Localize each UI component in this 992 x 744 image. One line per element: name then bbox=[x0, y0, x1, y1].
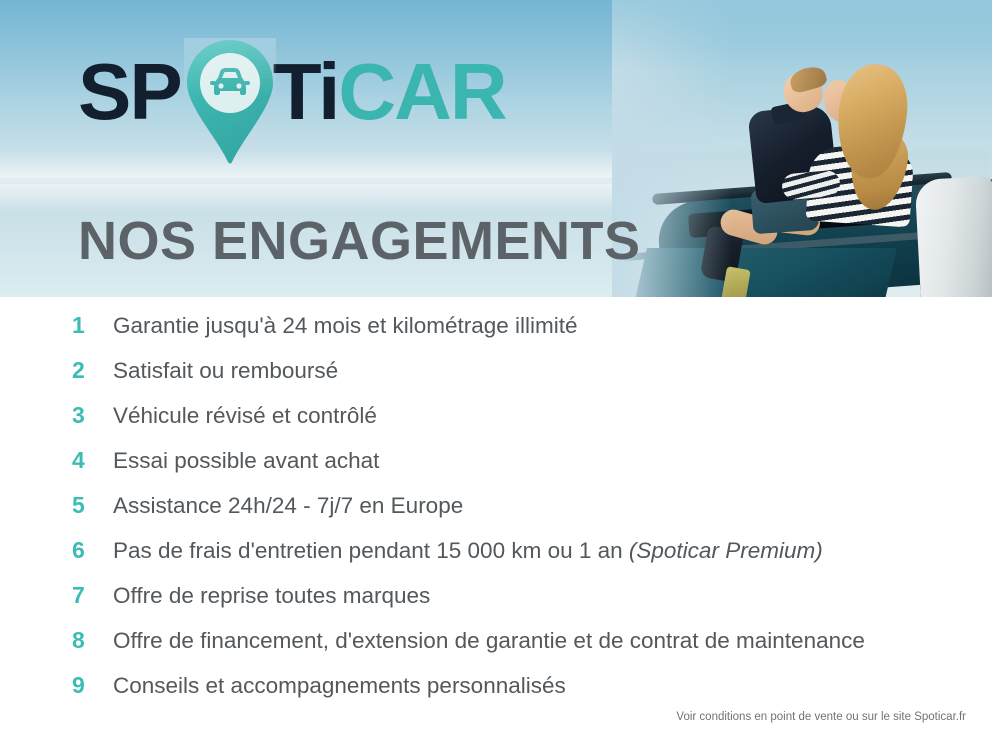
item-number: 9 bbox=[72, 672, 113, 699]
hero-photo bbox=[612, 0, 992, 297]
commitments-list: 1 Garantie jusqu'à 24 mois et kilométrag… bbox=[0, 312, 992, 717]
list-item: 2 Satisfait ou remboursé bbox=[0, 357, 992, 402]
disclaimer-text: Voir conditions en point de vente ou sur… bbox=[676, 711, 966, 723]
item-text: Garantie jusqu'à 24 mois et kilométrage … bbox=[113, 313, 578, 339]
logo-text-sp: SP bbox=[78, 52, 181, 132]
item-number: 3 bbox=[72, 402, 113, 429]
spoticar-commitments-page: SP Ti CAR bbox=[0, 0, 992, 744]
item-number: 2 bbox=[72, 357, 113, 384]
item-number: 4 bbox=[72, 447, 113, 474]
item-text: Offre de reprise toutes marques bbox=[113, 583, 430, 609]
item-number: 8 bbox=[72, 627, 113, 654]
hero-banner: SP Ti CAR bbox=[0, 0, 992, 297]
list-item: 7 Offre de reprise toutes marques bbox=[0, 582, 992, 627]
item-text: Offre de financement, d'extension de gar… bbox=[113, 628, 865, 654]
list-item: 8 Offre de financement, d'extension de g… bbox=[0, 627, 992, 672]
map-pin-car-icon bbox=[184, 38, 276, 166]
list-item: 1 Garantie jusqu'à 24 mois et kilométrag… bbox=[0, 312, 992, 357]
item-text: Essai possible avant achat bbox=[113, 448, 379, 474]
logo-text-ti: Ti bbox=[273, 52, 339, 132]
item-text: Assistance 24h/24 - 7j/7 en Europe bbox=[113, 493, 463, 519]
spoticar-logo: SP Ti CAR bbox=[78, 46, 506, 138]
photo-top-fade bbox=[612, 0, 992, 70]
item-text: Satisfait ou remboursé bbox=[113, 358, 338, 384]
item-text: Pas de frais d'entretien pendant 15 000 … bbox=[113, 538, 823, 564]
car-pillar bbox=[915, 176, 992, 297]
item-number: 1 bbox=[72, 312, 113, 339]
list-item: 5 Assistance 24h/24 - 7j/7 en Europe bbox=[0, 492, 992, 537]
item-number: 5 bbox=[72, 492, 113, 519]
list-item: 6 Pas de frais d'entretien pendant 15 00… bbox=[0, 537, 992, 582]
item-text: Véhicule révisé et contrôlé bbox=[113, 403, 377, 429]
logo-text-car: CAR bbox=[338, 52, 505, 132]
item-number: 6 bbox=[72, 537, 113, 564]
item-text: Conseils et accompagnements personnalisé… bbox=[113, 673, 566, 699]
page-title: NOS ENGAGEMENTS bbox=[78, 212, 641, 270]
list-item: 3 Véhicule révisé et contrôlé bbox=[0, 402, 992, 447]
list-item: 4 Essai possible avant achat bbox=[0, 447, 992, 492]
item-number: 7 bbox=[72, 582, 113, 609]
